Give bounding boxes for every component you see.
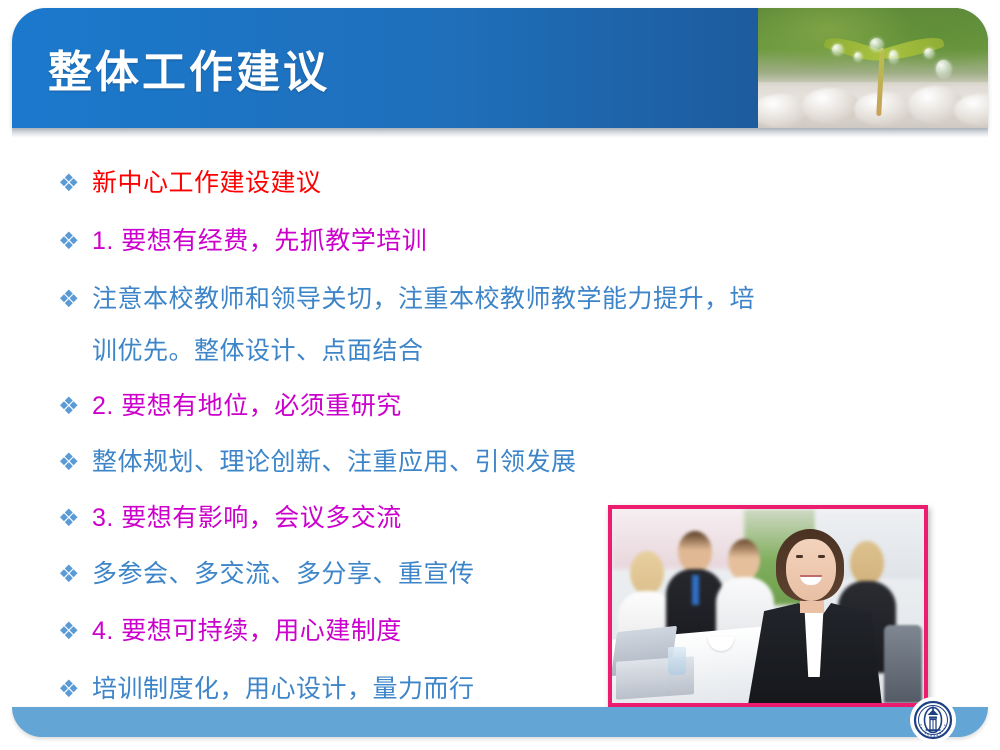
woman-eye-left — [796, 555, 803, 558]
meeting-photo — [612, 509, 924, 703]
diamond-bullet-icon: ❖ — [58, 557, 92, 591]
sprout-photo — [758, 8, 988, 128]
list-item-text: 整体规划、理论创新、注重应用、引领发展 — [92, 445, 577, 479]
slide-footer-bar — [12, 707, 988, 737]
diamond-bullet-icon: ❖ — [58, 282, 92, 316]
university-crest-icon — [910, 697, 956, 743]
woman-eye-right — [818, 555, 825, 558]
list-item: ❖ 3. 要想有影响，会议多交流 — [58, 501, 402, 535]
list-item: ❖ 1. 要想有经费，先抓教学培训 — [58, 224, 427, 258]
dew-drop — [832, 44, 843, 55]
diamond-bullet-icon: ❖ — [58, 445, 92, 479]
list-item-text: 新中心工作建设建议 — [92, 166, 322, 200]
sprout-photo-stones — [758, 82, 988, 128]
dew-drop — [870, 38, 883, 51]
page-title: 整体工作建议 — [48, 46, 330, 100]
list-item: ❖ 4. 要想可持续，用心建制度 — [58, 614, 402, 648]
list-item: ❖ 培训制度化，用心设计，量力而行 — [58, 672, 475, 706]
diamond-bullet-icon: ❖ — [58, 389, 92, 423]
list-item-continuation: ❖ 训优先。整体设计、点面结合 — [58, 334, 424, 368]
slide-header-bar: 整体工作建议 — [12, 8, 988, 128]
dew-drop — [936, 60, 951, 77]
dew-drop — [854, 52, 862, 61]
list-item: ❖ 整体规划、理论创新、注重应用、引领发展 — [58, 445, 577, 479]
list-item-text: 2. 要想有地位，必须重研究 — [92, 389, 402, 423]
list-item-text: 4. 要想可持续，用心建制度 — [92, 614, 402, 648]
woman-face — [786, 539, 836, 601]
list-item-text: 培训制度化，用心设计，量力而行 — [92, 672, 475, 706]
diamond-bullet-icon: ❖ — [58, 501, 92, 535]
stone-shape — [854, 92, 916, 126]
person-necktie — [692, 575, 699, 605]
list-item: ❖ 2. 要想有地位，必须重研究 — [58, 389, 402, 423]
dew-drop — [924, 48, 934, 58]
dew-drop — [889, 50, 898, 63]
diamond-bullet-icon: ❖ — [58, 224, 92, 258]
list-item-text: 1. 要想有经费，先抓教学培训 — [92, 224, 427, 258]
list-item-text: 注意本校教师和领导关切，注重本校教师教学能力提升，培 — [92, 282, 755, 316]
list-item: ❖ 新中心工作建设建议 — [58, 166, 322, 200]
stone-shape — [802, 88, 860, 124]
person-head — [630, 551, 664, 595]
list-item-text: 多参会、多交流、多分享、重宣传 — [92, 557, 475, 591]
slide: 整体工作建议 ❖ 新中心工作建设建议 ❖ 1. 要想有经费，先抓教学培训 ❖ 注… — [0, 0, 1000, 750]
diamond-bullet-icon: ❖ — [58, 166, 92, 200]
list-item: ❖ 注意本校教师和领导关切，注重本校教师教学能力提升，培 — [58, 282, 755, 316]
list-item-text: 训优先。整体设计、点面结合 — [92, 334, 424, 368]
list-item: ❖ 多参会、多交流、多分享、重宣传 — [58, 557, 475, 591]
diamond-bullet-icon: ❖ — [58, 614, 92, 648]
meeting-photo-frame — [608, 505, 928, 707]
list-item-text: 3. 要想有影响，会议多交流 — [92, 501, 402, 535]
header-drop-shadow — [12, 128, 988, 138]
water-glass — [668, 647, 686, 675]
person-head — [678, 531, 712, 573]
diamond-bullet-icon: ❖ — [58, 672, 92, 706]
foreground-woman — [740, 523, 890, 703]
